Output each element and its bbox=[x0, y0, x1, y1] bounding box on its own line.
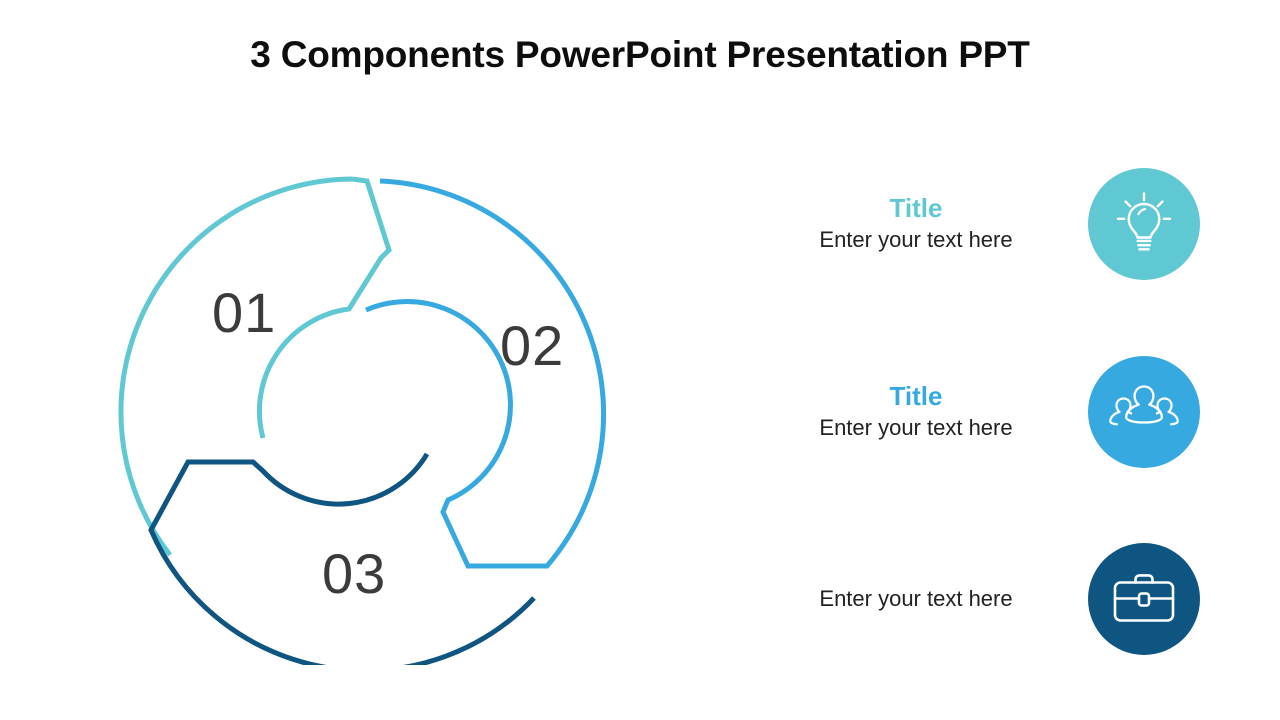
cycle-diagram-svg: 01 02 03 bbox=[100, 155, 610, 665]
segment-02-path bbox=[366, 181, 604, 566]
diagram-segment-02[interactable] bbox=[366, 181, 604, 566]
list-item[interactable]: Enter your text here bbox=[740, 533, 1200, 665]
list-item-title: Title bbox=[890, 194, 943, 224]
list-item-text: Title Enter your text here bbox=[766, 382, 1066, 441]
segment-number-02: 02 bbox=[500, 314, 564, 377]
list-item-description: Enter your text here bbox=[819, 586, 1012, 612]
briefcase-icon-glyph bbox=[1109, 569, 1179, 629]
list-item-text: Title Enter your text here bbox=[766, 194, 1066, 253]
list-item-description: Enter your text here bbox=[819, 415, 1012, 441]
lightbulb-icon-glyph bbox=[1108, 188, 1180, 260]
segment-number-01: 01 bbox=[212, 281, 276, 344]
team-people-icon-glyph bbox=[1106, 381, 1182, 443]
list-item-text: Enter your text here bbox=[766, 586, 1066, 612]
page-title: 3 Components PowerPoint Presentation PPT bbox=[0, 34, 1280, 76]
list-item-description: Enter your text here bbox=[819, 227, 1012, 253]
list-item[interactable]: Title Enter your text here bbox=[740, 346, 1200, 478]
slide-canvas: 3 Components PowerPoint Presentation PPT… bbox=[0, 0, 1280, 720]
lightbulb-icon[interactable] bbox=[1088, 168, 1200, 280]
segment-01-path bbox=[121, 179, 389, 555]
briefcase-icon[interactable] bbox=[1088, 543, 1200, 655]
segment-number-03: 03 bbox=[322, 542, 386, 605]
component-list: Title Enter your text here bbox=[740, 158, 1200, 688]
team-people-icon[interactable] bbox=[1088, 356, 1200, 468]
three-component-cycle-diagram: 01 02 03 bbox=[100, 155, 610, 665]
list-item[interactable]: Title Enter your text here bbox=[740, 158, 1200, 290]
diagram-segment-01[interactable] bbox=[121, 179, 389, 555]
list-item-title: Title bbox=[890, 382, 943, 412]
